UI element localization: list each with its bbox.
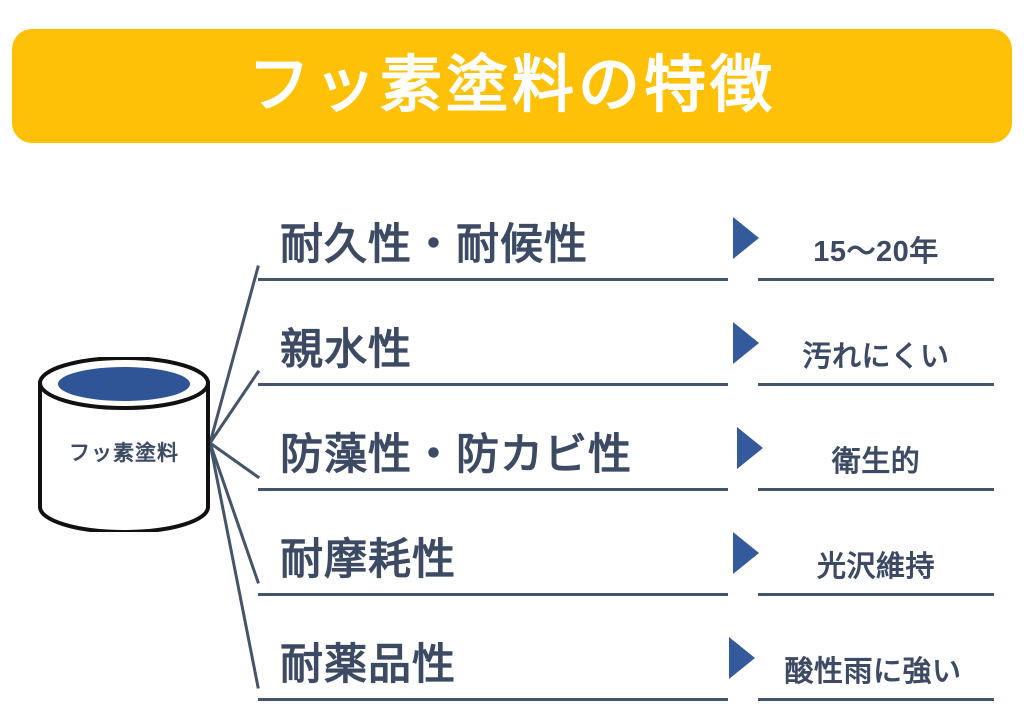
feature-row[interactable]: 耐薬品性 酸性雨に強い — [258, 605, 994, 701]
infographic-canvas: フッ素塗料の特徴 フッ素塗料 耐久性・耐候性 15〜20年 — [0, 0, 1024, 725]
connector-line-4 — [210, 443, 258, 687]
title-banner: フッ素塗料の特徴 — [12, 29, 1012, 143]
feature-row[interactable]: 耐久性・耐候性 15〜20年 — [258, 185, 994, 281]
feature-label: 耐薬品性 — [280, 644, 456, 687]
triangle-right-icon — [733, 532, 759, 574]
feature-value: 衛生的 — [758, 448, 994, 477]
feature-row[interactable]: 防藻性・防カビ性 衛生的 — [258, 395, 994, 491]
feature-row[interactable]: 耐摩耗性 光沢維持 — [258, 500, 994, 596]
connector-line-2 — [210, 443, 258, 477]
connector-line-1 — [210, 372, 258, 443]
feature-underline-right — [758, 488, 994, 491]
feature-underline-left — [258, 383, 728, 386]
feature-underline-left — [258, 278, 728, 281]
triangle-right-icon — [733, 322, 759, 364]
feature-label: 耐摩耗性 — [280, 539, 456, 582]
feature-underline-left — [258, 593, 728, 596]
feature-label: 耐久性・耐候性 — [280, 224, 588, 267]
feature-underline-right — [758, 698, 994, 701]
feature-underline-left — [258, 698, 728, 701]
feature-underline-left — [258, 488, 728, 491]
feature-value: 15〜20年 — [758, 238, 994, 267]
feature-underline-right — [758, 593, 994, 596]
can-paint-surface — [58, 367, 190, 401]
feature-underline-right — [758, 383, 994, 386]
feature-label: 防藻性・防カビ性 — [280, 434, 632, 477]
feature-value: 汚れにくい — [758, 343, 994, 372]
feature-row[interactable]: 親水性 汚れにくい — [258, 290, 994, 386]
feature-value: 酸性雨に強い — [752, 658, 994, 687]
connector-line-0 — [210, 267, 258, 443]
page-title: フッ素塗料の特徴 — [248, 55, 776, 117]
feature-value: 光沢維持 — [758, 553, 994, 582]
connector-line-3 — [210, 443, 258, 582]
triangle-right-icon — [733, 217, 759, 259]
paint-can-graphic: フッ素塗料 — [36, 357, 212, 532]
feature-label: 親水性 — [280, 329, 412, 372]
feature-underline-right — [758, 278, 994, 281]
